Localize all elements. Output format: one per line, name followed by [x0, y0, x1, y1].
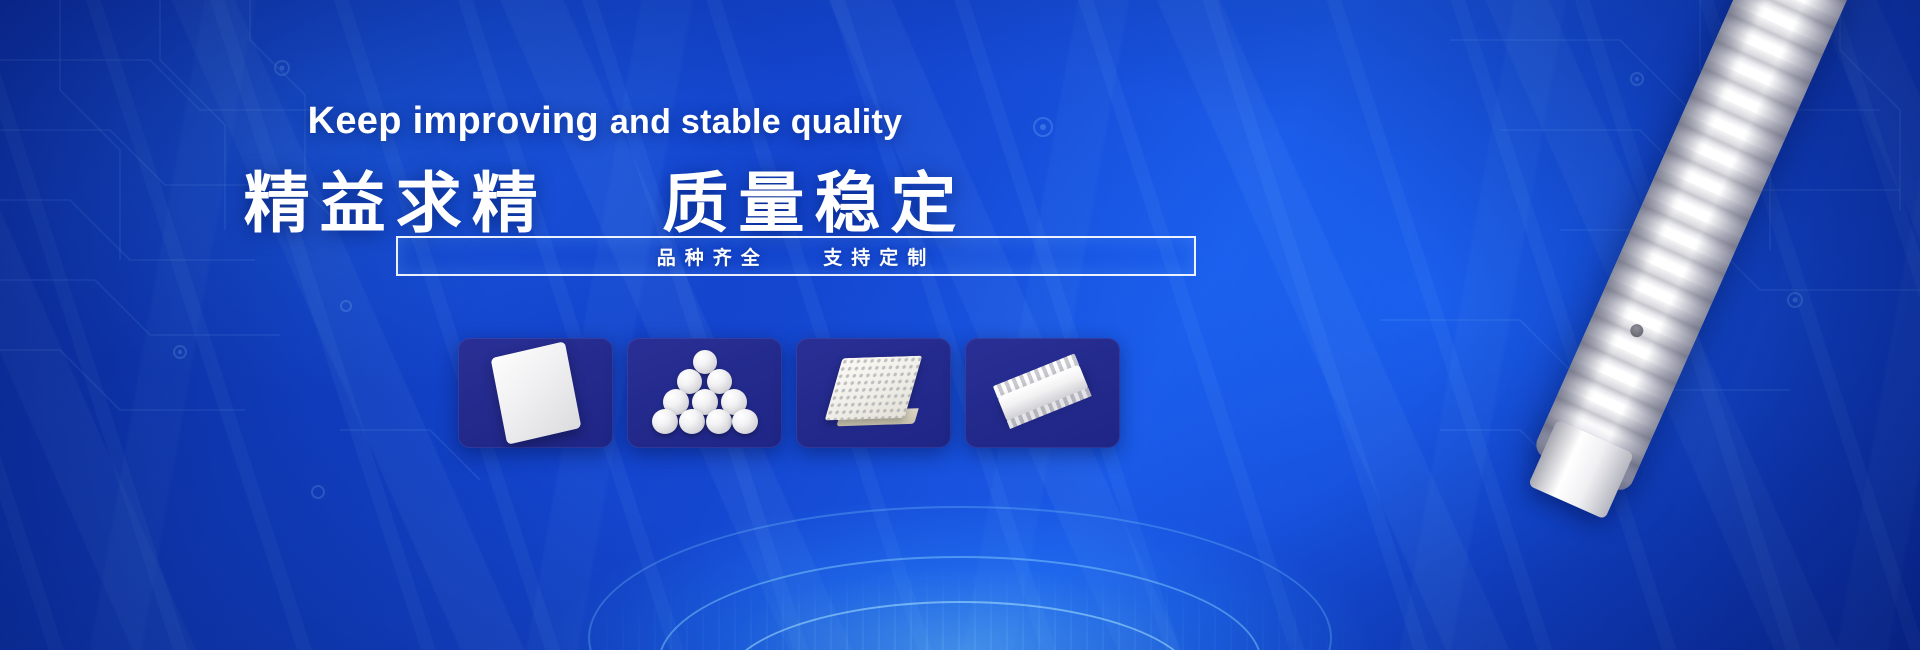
product-card-ridged-ceramic-bar[interactable] [965, 338, 1120, 448]
english-headline: Keep improving and stable quality [0, 100, 1210, 143]
ceramic-plate-icon [490, 341, 581, 444]
product-card-honeycomb-ceramic[interactable] [796, 338, 951, 448]
product-card-ceramic-plate[interactable] [458, 338, 613, 448]
tagline-left: 品种齐全 [657, 248, 769, 269]
chinese-headline-right: 质量稳定 [662, 166, 966, 240]
honeycomb-ceramic-icon [823, 349, 925, 436]
tagline-right: 支持定制 [823, 248, 935, 269]
ridged-ceramic-bar-icon [984, 341, 1101, 446]
tagline-text: 品种齐全 支持定制 [657, 243, 936, 270]
product-card-list [458, 338, 1120, 448]
product-card-ceramic-balls[interactable] [627, 338, 782, 448]
chinese-headline: 精益求精 质量稳定 [0, 150, 1210, 246]
chinese-headline-left: 精益求精 [244, 166, 548, 240]
promo-banner: Keep improving and stable quality 精益求精 质… [0, 0, 1920, 650]
english-headline-strong: Keep improving [308, 100, 599, 142]
tagline-box: 品种齐全 支持定制 [396, 236, 1196, 276]
english-headline-light: and stable quality [610, 103, 903, 141]
ceramic-balls-icon [652, 350, 758, 436]
